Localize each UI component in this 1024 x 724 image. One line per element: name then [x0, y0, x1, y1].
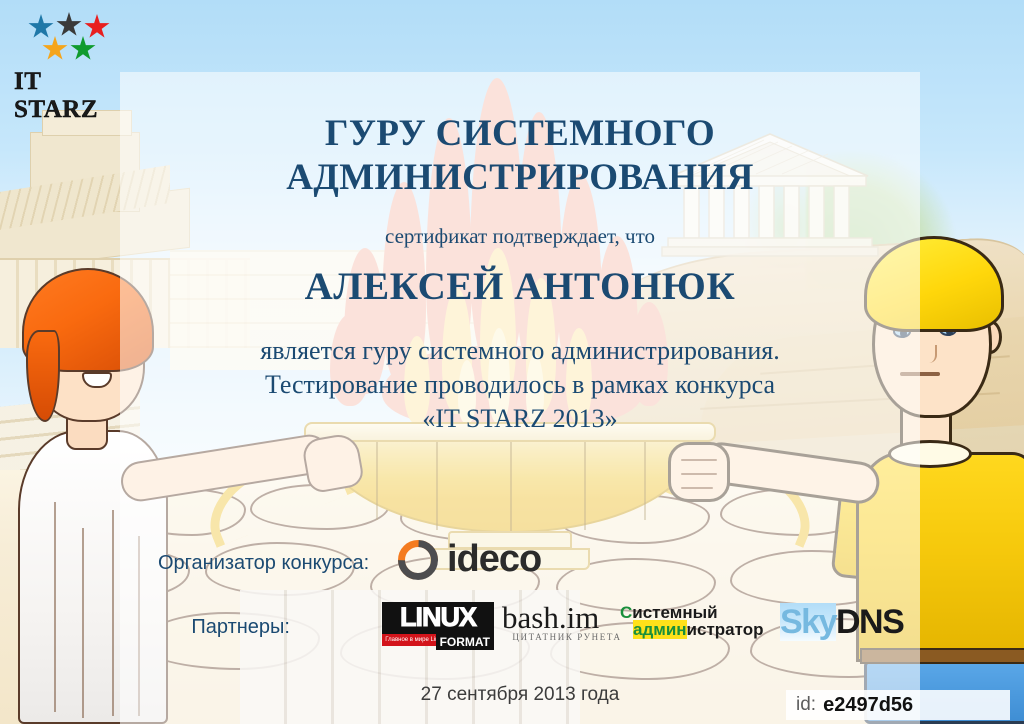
- certificate-body-line3: «IT STARZ 2013»: [120, 402, 920, 436]
- partners-row: Партнеры: LINUX Главное в мире Linux FOR…: [120, 600, 920, 654]
- organizer-label: Организатор конкурса:: [158, 552, 369, 575]
- bash-im-sub: ЦИТАТНИК РУНЕТА: [502, 632, 632, 642]
- certificate-confirms-text: сертификат подтверждает, что: [120, 224, 920, 249]
- certificate-content: ГУРУ СИСТЕМНОГО АДМИНИСТРИРОВАНИЯ сертиф…: [120, 72, 920, 724]
- skydns-part1: Sky: [780, 603, 836, 641]
- organizer-row: Организатор конкурса: ideco: [120, 542, 920, 590]
- skydns-part2: DNS: [836, 603, 903, 641]
- it-starz-logo: IT STARZ: [14, 14, 120, 100]
- partner-bash-im-logo: bash.im ЦИТАТНИК РУНЕТА: [502, 602, 632, 642]
- partner-skydns-logo: SkyDNS: [780, 604, 903, 640]
- certificate-canvas: IT STARZ ГУРУ СИСТЕМНОГО АДМИНИСТРИРОВАН…: [0, 0, 1024, 724]
- sysadmin-row2: администратор: [633, 621, 780, 638]
- partner-sistemny-administrator-logo: Системный администратор: [620, 604, 780, 638]
- ideco-logo: ideco: [398, 538, 541, 581]
- certificate-body-line2: Тестирование проводилось в рамках конкур…: [120, 368, 920, 402]
- id-label: id:: [796, 694, 816, 716]
- recipient-name: АЛЕКСЕЙ АНТОНЮК: [120, 264, 920, 309]
- logo-stars: [14, 14, 114, 64]
- ideco-wordmark: ideco: [447, 538, 541, 581]
- logo-wordmark: IT STARZ: [14, 68, 120, 124]
- linux-format-sub: FORMAT: [436, 634, 494, 650]
- partner-linux-format-logo: LINUX Главное в мире Linux FORMAT: [382, 602, 494, 646]
- certificate-title-line1: ГУРУ СИСТЕМНОГО: [120, 112, 920, 156]
- ideco-mark-icon: [398, 540, 438, 580]
- certificate-body-line1: является гуру системного администрирован…: [120, 334, 920, 368]
- certificate-title-line2: АДМИНИСТРИРОВАНИЯ: [120, 156, 920, 200]
- sysadmin-row1: Системный: [620, 604, 780, 621]
- partners-label: Партнеры:: [120, 616, 290, 639]
- certificate-id-strip: id: e2497d56: [786, 690, 1010, 720]
- bash-im-main: bash.im: [502, 602, 632, 634]
- id-value: e2497d56: [823, 694, 913, 717]
- linux-format-main: LINUX: [382, 602, 494, 631]
